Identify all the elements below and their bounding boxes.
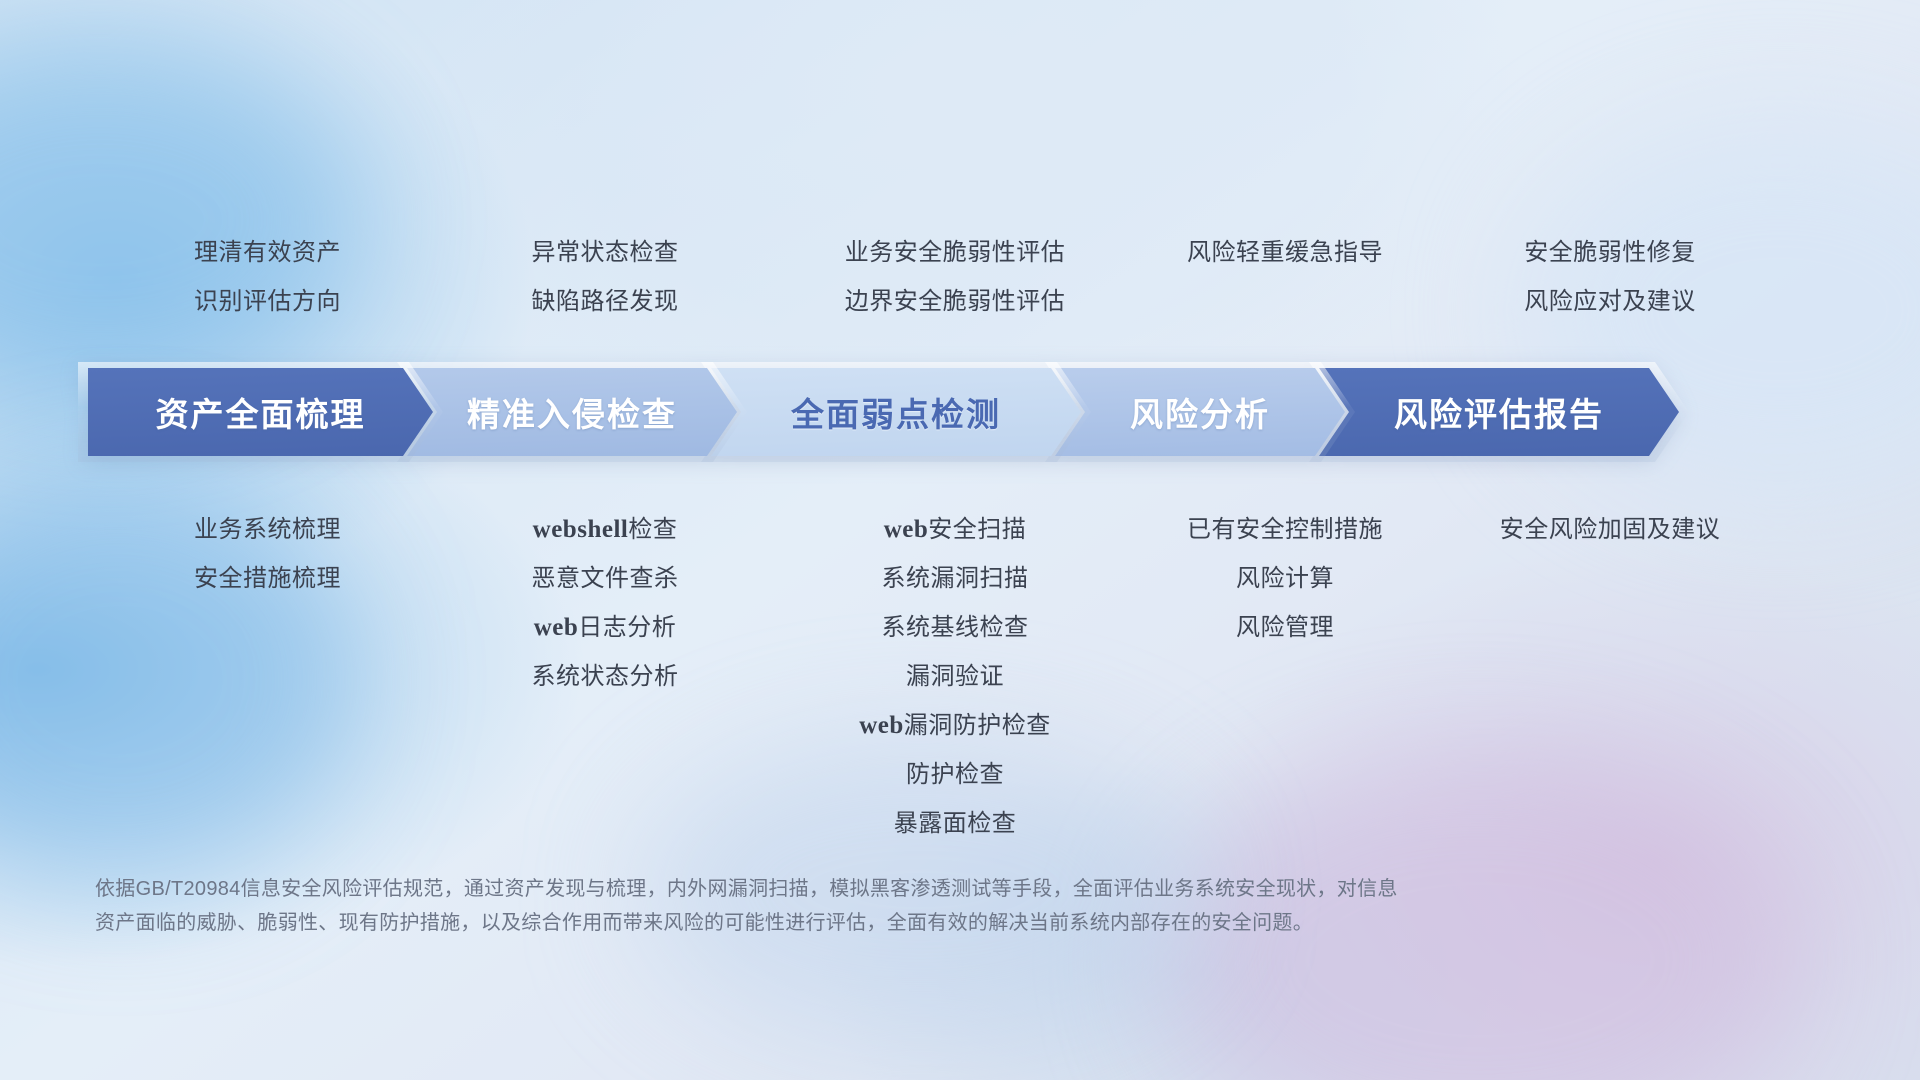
bottom-label-item: 业务系统梳理 bbox=[194, 505, 341, 554]
bottom-label-item: 恶意文件查杀 bbox=[532, 554, 679, 603]
bottom-label-column-risk-report: 安全风险加固及建议 bbox=[1430, 505, 1790, 848]
bottom-label-item: 系统状态分析 bbox=[532, 652, 679, 701]
bottom-labels-row: 业务系统梳理安全措施梳理webshell检查恶意文件查杀web日志分析系统状态分… bbox=[95, 505, 1855, 848]
top-label-item: 理清有效资产 bbox=[194, 228, 341, 277]
decorative-blob-left-top bbox=[0, 40, 360, 400]
top-label-item: 业务安全脆弱性评估 bbox=[845, 228, 1066, 277]
top-label-item: 缺陷路径发现 bbox=[532, 277, 679, 326]
process-step-title: 资产全面梳理 bbox=[156, 388, 366, 436]
bottom-label-column-weakness-detection: web安全扫描系统漏洞扫描系统基线检查漏洞验证web漏洞防护检查防护检查暴露面检… bbox=[770, 505, 1140, 848]
process-step-title: 精准入侵检查 bbox=[467, 388, 677, 436]
bottom-label-column-intrusion-check: webshell检查恶意文件查杀web日志分析系统状态分析 bbox=[440, 505, 770, 848]
bottom-label-column-asset-inventory: 业务系统梳理安全措施梳理 bbox=[95, 505, 440, 848]
footnote-line-1: 依据GB/T20984信息安全风险评估规范，通过资产发现与梳理，内外网漏洞扫描，… bbox=[95, 872, 1655, 906]
bottom-label-column-risk-analysis: 已有安全控制措施风险计算风险管理 bbox=[1140, 505, 1430, 848]
top-label-item: 风险应对及建议 bbox=[1524, 277, 1696, 326]
bottom-label-item: 暴露面检查 bbox=[894, 799, 1017, 848]
bottom-label-latin: web bbox=[859, 712, 904, 739]
bottom-label-item: 风险计算 bbox=[1236, 554, 1334, 603]
process-step-title: 风险评估报告 bbox=[1394, 388, 1604, 436]
footnote-line-2: 资产面临的威胁、脆弱性、现有防护措施，以及综合作用而带来风险的可能性进行评估，全… bbox=[95, 906, 1655, 940]
bottom-label-cn: 漏洞防护检查 bbox=[904, 712, 1051, 739]
slide-canvas: 理清有效资产识别评估方向异常状态检查缺陷路径发现业务安全脆弱性评估边界安全脆弱性… bbox=[0, 0, 1920, 1080]
bottom-label-latin: web bbox=[534, 614, 579, 641]
bottom-label-item: 防护检查 bbox=[906, 750, 1004, 799]
process-step-intrusion-check[interactable]: 精准入侵检查 bbox=[407, 368, 737, 456]
bottom-label-item: 已有安全控制措施 bbox=[1187, 505, 1383, 554]
top-label-column-risk-report: 安全脆弱性修复风险应对及建议 bbox=[1430, 228, 1790, 326]
bottom-label-latin: webshell bbox=[533, 516, 629, 543]
process-step-risk-report[interactable]: 风险评估报告 bbox=[1319, 368, 1679, 456]
bottom-label-item: 风险管理 bbox=[1236, 603, 1334, 652]
top-label-item: 识别评估方向 bbox=[194, 277, 341, 326]
bottom-label-item: 安全风险加固及建议 bbox=[1500, 505, 1721, 554]
top-label-column-weakness-detection: 业务安全脆弱性评估边界安全脆弱性评估 bbox=[770, 228, 1140, 326]
top-label-item: 风险轻重缓急指导 bbox=[1187, 228, 1383, 277]
top-label-column-intrusion-check: 异常状态检查缺陷路径发现 bbox=[440, 228, 770, 326]
process-step-asset-inventory[interactable]: 资产全面梳理 bbox=[88, 368, 433, 456]
bottom-label-item: web日志分析 bbox=[534, 603, 677, 652]
bottom-label-item: web漏洞防护检查 bbox=[859, 701, 1051, 750]
top-label-column-risk-analysis: 风险轻重缓急指导 bbox=[1140, 228, 1430, 326]
bottom-label-cn: 检查 bbox=[628, 516, 677, 543]
bottom-label-cn: 日志分析 bbox=[578, 614, 676, 641]
bottom-label-item: 漏洞验证 bbox=[906, 652, 1004, 701]
bottom-label-item: webshell检查 bbox=[533, 505, 678, 554]
top-label-item: 异常状态检查 bbox=[532, 228, 679, 277]
top-label-item: 边界安全脆弱性评估 bbox=[845, 277, 1066, 326]
bottom-label-item: web安全扫描 bbox=[884, 505, 1027, 554]
top-label-column-asset-inventory: 理清有效资产识别评估方向 bbox=[95, 228, 440, 326]
process-step-weakness-detection[interactable]: 全面弱点检测 bbox=[711, 368, 1081, 456]
process-step-title: 全面弱点检测 bbox=[791, 388, 1001, 436]
footnote: 依据GB/T20984信息安全风险评估规范，通过资产发现与梳理，内外网漏洞扫描，… bbox=[95, 872, 1655, 940]
top-label-item: 安全脆弱性修复 bbox=[1524, 228, 1696, 277]
bottom-label-item: 安全措施梳理 bbox=[194, 554, 341, 603]
bottom-label-item: 系统漏洞扫描 bbox=[882, 554, 1029, 603]
process-arrow-bar: 资产全面梳理精准入侵检查全面弱点检测风险分析风险评估报告 bbox=[88, 368, 1844, 456]
process-step-title: 风险分析 bbox=[1130, 388, 1270, 436]
top-labels-row: 理清有效资产识别评估方向异常状态检查缺陷路径发现业务安全脆弱性评估边界安全脆弱性… bbox=[95, 228, 1855, 326]
bottom-label-item: 系统基线检查 bbox=[882, 603, 1029, 652]
process-step-risk-analysis[interactable]: 风险分析 bbox=[1055, 368, 1345, 456]
bottom-label-cn: 安全扫描 bbox=[928, 516, 1026, 543]
bottom-label-latin: web bbox=[884, 516, 929, 543]
